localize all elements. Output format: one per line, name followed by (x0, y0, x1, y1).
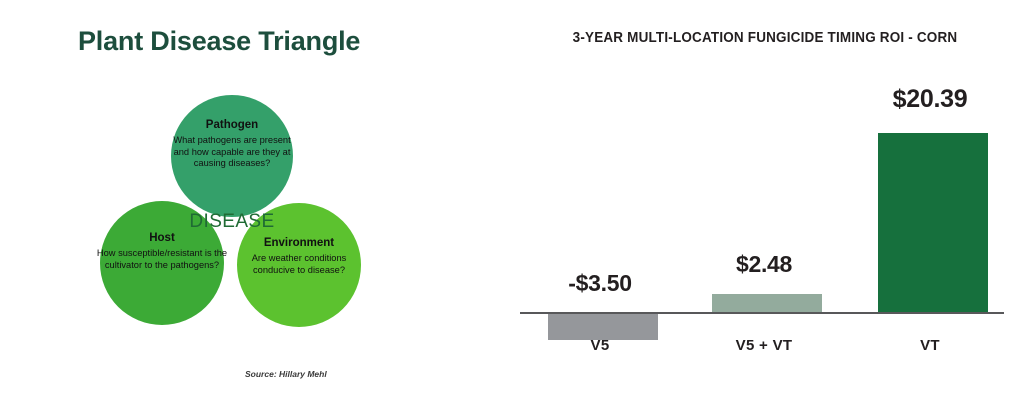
bar-category-label-vt: VT (850, 337, 1010, 354)
bar-category-label-v5: V5 (520, 337, 680, 354)
bar-category-label-v5-plus-vt: V5 + VT (684, 337, 844, 354)
venn-circle-environment (237, 203, 361, 327)
bar-group-v5-plus-vt: $2.48 V5 + VT (684, 85, 844, 375)
venn-circle-pathogen (171, 95, 293, 217)
bar-value-vt: $20.39 (850, 85, 1010, 114)
chart-title: 3-YEAR MULTI-LOCATION FUNGICIDE TIMING R… (519, 30, 1012, 46)
venn-circle-host (100, 201, 224, 325)
bar-v5-plus-vt (712, 294, 822, 312)
plant-disease-triangle-panel: Plant Disease Triangle Pathogen What pat… (0, 0, 500, 410)
venn-diagram: Pathogen What pathogens are present and … (95, 95, 365, 340)
bar-chart-plot-area: -$3.50 V5 $2.48 V5 + VT $20.39 VT (520, 85, 1016, 375)
bar-group-vt: $20.39 VT (850, 85, 1010, 375)
bar-value-v5-plus-vt: $2.48 (684, 251, 844, 278)
fungicide-roi-chart-panel: 3-YEAR MULTI-LOCATION FUNGICIDE TIMING R… (500, 0, 1030, 410)
bar-value-v5: -$3.50 (520, 270, 680, 297)
bar-vt (878, 133, 988, 312)
bar-group-v5: -$3.50 V5 (520, 85, 680, 375)
page-title: Plant Disease Triangle (78, 26, 360, 57)
screenshot-canvas: Plant Disease Triangle Pathogen What pat… (0, 0, 1030, 410)
source-credit: Source: Hillary Mehl (245, 369, 327, 379)
